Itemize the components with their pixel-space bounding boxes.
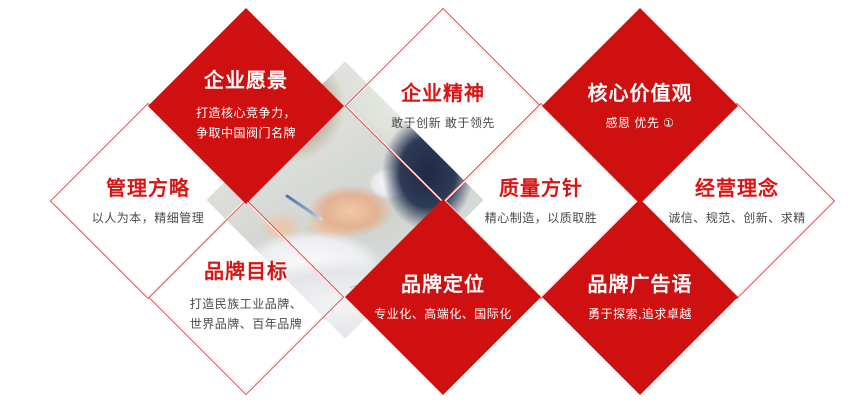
diamond-title: 企业愿景 <box>204 69 288 94</box>
diamond-title: 核心价值观 <box>587 82 692 107</box>
diamond-brand-positioning[interactable]: 品牌定位 专业化、高端化、国际化 <box>345 199 541 395</box>
diamond-subtitle-line: 打造核心竞争力， <box>196 103 296 123</box>
diamond-subtitle: 打造核心竞争力， 争取中国阀门名牌 <box>196 103 296 144</box>
diamond-title: 品牌广告语 <box>587 273 692 298</box>
diamond-title: 品牌定位 <box>401 273 485 298</box>
diamond-core-values[interactable]: 核心价值观 感恩 优先 ① <box>542 8 738 204</box>
diamond-subtitle-line: 争取中国阀门名牌 <box>196 123 296 143</box>
diamond-subtitle: 勇于探索,追求卓越 <box>588 307 692 322</box>
diamond-subtitle: 专业化、高端化、国际化 <box>374 307 512 322</box>
diamond-subtitle: 打造民族工业品牌、 世界品牌、百年品牌 <box>190 294 303 335</box>
diamond-subtitle-line: 世界品牌、百年品牌 <box>190 314 303 334</box>
diamond-subtitle: 感恩 优先 ① <box>606 116 675 131</box>
diamond-subtitle: 以人为本，精细管理 <box>92 211 205 226</box>
culture-diamond-infographic: 企业愿景 打造核心竞争力， 争取中国阀门名牌 企业精神 敢于创新 敢于领先 核心… <box>0 0 850 402</box>
diamond-brand-slogan[interactable]: 品牌广告语 勇于探索,追求卓越 <box>542 199 738 395</box>
diamond-enterprise-vision[interactable]: 企业愿景 打造核心竞争力， 争取中国阀门名牌 <box>148 8 344 204</box>
